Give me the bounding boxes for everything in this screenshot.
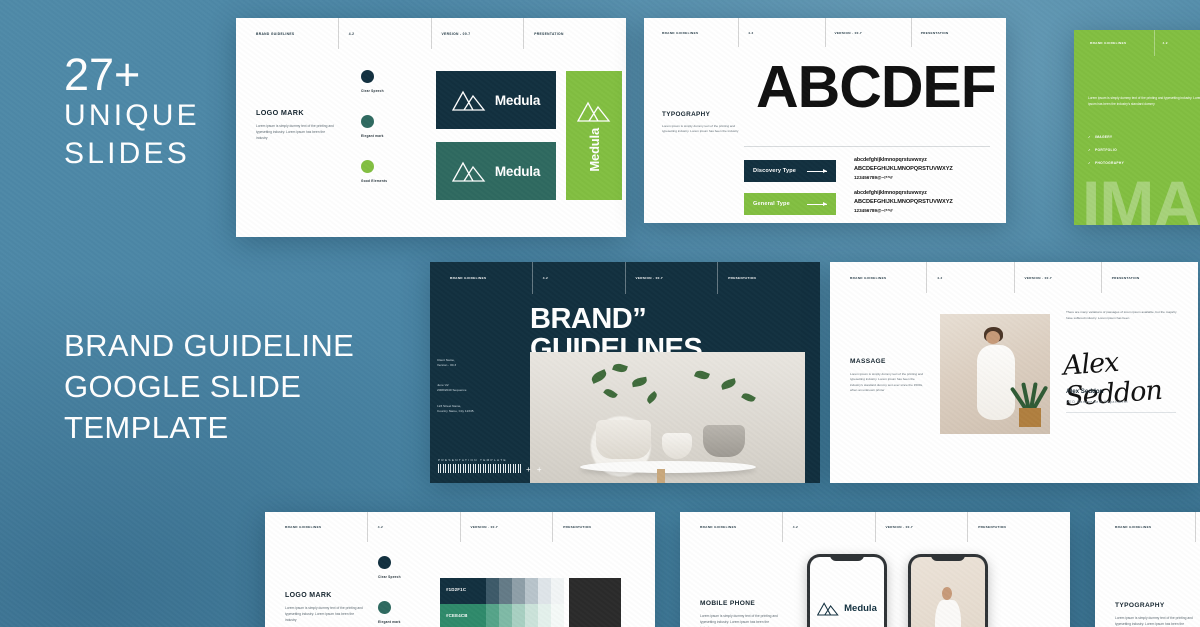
- color-swatch-list: Clear Speech Elegant mark: [378, 556, 401, 627]
- promo-banner: 27+ UNIQUE SLIDES BRAND GUIDELINE GOOGLE…: [0, 0, 1200, 627]
- header-cell-brand: BRAND GUIDELINES: [1082, 30, 1154, 56]
- general-type-button[interactable]: General Type: [744, 193, 836, 215]
- header-cell-brand: BRAND GUIDELINES: [440, 262, 532, 294]
- section-title: TYPOGRAPHY: [662, 111, 740, 118]
- section-body: Lorem ipsum is simply dummy text of the …: [256, 124, 336, 141]
- mountain-logo-icon: [452, 89, 486, 111]
- logo-lockup-teal: Medula: [436, 142, 556, 200]
- swatch-dot-teal: [361, 115, 374, 128]
- slide-header-bar: BRAND GUIDELINES 4.2 VERSION - 00.7 PRES…: [680, 512, 1070, 542]
- discovery-type-button[interactable]: Discovery Type: [744, 160, 836, 182]
- slides-label: SLIDES: [64, 135, 200, 173]
- slide-imagery[interactable]: BRAND GUIDELINES 4.2 Lorem ipsum is simp…: [1074, 30, 1200, 225]
- section-title: TYPOGRAPHY: [1115, 602, 1195, 609]
- massage-side-paragraph: There are many variations of passages of…: [1066, 310, 1178, 321]
- header-cell-version-no: 4.2: [782, 512, 875, 542]
- wordmark: Medula: [495, 164, 540, 179]
- leaf-branch-left: [580, 360, 690, 428]
- specimen-numbers: 123456789@~!*^#: [854, 175, 953, 180]
- massage-text-block: MASSAGE Lorem ipsum is simply dummy text…: [850, 358, 928, 394]
- slide-header-bar: BRAND GUIDELINES 4.2: [1095, 512, 1200, 542]
- type-specimen-general: abcdefghijklmnopqrstuvwxyz ABCDEFGHIJKLM…: [854, 190, 953, 213]
- palette-cell: [538, 604, 551, 627]
- phone-mockup-photo: [908, 554, 988, 627]
- imagery-body: Lorem ipsum is simply dummy text of the …: [1088, 96, 1200, 108]
- palette-cell: [486, 578, 499, 604]
- swatch-label: Good Elements: [361, 179, 387, 183]
- header-cell-brand: BRAND GUIDELINES: [690, 512, 782, 542]
- header-cell-presentation: PRESENTATION: [552, 512, 645, 542]
- section-body: Lorem ipsum is simply dummy text of the …: [662, 124, 740, 135]
- slide-logo-mark[interactable]: BRAND GUIDELINES 4.2 VERSION - 00.7 PRES…: [236, 18, 626, 237]
- header-cell-presentation: PRESENTATION: [911, 18, 997, 47]
- title-line-3: TEMPLATE: [64, 407, 354, 448]
- specimen-heading: ABCDEF: [756, 58, 996, 117]
- swatch-dot-teal: [378, 601, 391, 614]
- mountain-logo-icon: [817, 601, 839, 616]
- type-specimen-discovery: abcdefghijklmnopqrstuvwxyz ABCDEFGHIJKLM…: [854, 157, 953, 180]
- header-cell-version-no: 4.2: [1154, 30, 1200, 56]
- palette-cell: [499, 604, 512, 627]
- checklist-item: PHOTOGRAPHY: [1088, 161, 1124, 165]
- swatch-dot-navy: [361, 70, 374, 83]
- specimen-lowercase: abcdefghijklmnopqrstuvwxyz: [854, 157, 953, 163]
- section-body: Lorem ipsum is simply dummy text of the …: [850, 372, 928, 394]
- slide-header-bar: BRAND GUIDELINES 4.2 VERSION - 00.7 PRES…: [430, 262, 820, 294]
- specimen-numbers: 123456789@~!*^#: [854, 208, 953, 213]
- header-cell-version: VERSION - 00.7: [460, 512, 553, 542]
- header-cell-version-no: 4.2: [738, 18, 824, 47]
- palette-cell: [512, 578, 525, 604]
- palette-text-block: LOGO MARK Lorem ipsum is simply dummy te…: [285, 592, 365, 623]
- header-cell-brand: BRAND GUIDELINES: [246, 18, 338, 49]
- pot-large: [596, 420, 651, 459]
- section-body: Lorem ipsum is simply dummy text of the …: [700, 614, 780, 627]
- header-cell-brand: BRAND GUIDELINES: [275, 512, 367, 542]
- typography-text-block: TYPOGRAPHY Lorem ipsum is simply dummy t…: [662, 111, 740, 135]
- cover-meta-date: June '22 2008/2040 Sequence: [437, 383, 466, 394]
- slide-header-bar: BRAND GUIDELINES 4.2 VERSION - 00.7 PRES…: [236, 18, 626, 49]
- header-cell-version-no: 4.2: [926, 262, 1013, 293]
- header-cell-brand: BRAND GUIDELINES: [840, 262, 926, 293]
- cover-photo-plants: [530, 352, 805, 483]
- slide-typography-secondary[interactable]: BRAND GUIDELINES 4.2 TYPOGRAPHY Lorem ip…: [1095, 512, 1200, 627]
- specimen-lowercase: abcdefghijklmnopqrstuvwxyz: [854, 190, 953, 196]
- swatch-item: Good Elements: [361, 160, 387, 183]
- section-title: LOGO MARK: [256, 108, 336, 117]
- wordmark: Medula: [587, 128, 602, 172]
- unique-slides-callout: 27+ UNIQUE SLIDES: [64, 52, 200, 172]
- massage-photo-woman: [940, 314, 1050, 434]
- header-cell-version: VERSION - 00.7: [1014, 262, 1101, 293]
- cover-meta-address: 123 Street Name, Country Name, City 1234…: [437, 404, 474, 415]
- palette-cell: [538, 578, 551, 604]
- section-body: Lorem ipsum is simply dummy text of the …: [285, 606, 365, 623]
- swatch-label: Elegant mark: [378, 620, 401, 624]
- header-cell-presentation: PRESENTATION: [1101, 262, 1188, 293]
- swatch-item: Clear Speech: [378, 556, 401, 579]
- phone-notch: [830, 554, 864, 561]
- arrow-right-icon: [807, 204, 827, 205]
- mountain-logo-icon: [577, 100, 611, 122]
- section-title: LOGO MARK: [285, 592, 365, 599]
- barcode-icon: [438, 464, 522, 473]
- palette-row: #CEE4CB: [440, 604, 564, 627]
- slide-typography[interactable]: BRAND GUIDELINES 4.2 VERSION - 00.7 PRES…: [644, 18, 1006, 223]
- header-cell-brand: BRAND GUIDELINES: [1105, 512, 1195, 542]
- palette-hex-label: #CEE4CB: [440, 613, 468, 618]
- palette-cell: [486, 604, 499, 627]
- wordmark: Medula: [844, 603, 877, 614]
- mountain-logo-icon: [452, 160, 486, 182]
- table-leg: [657, 469, 665, 483]
- imagery-big-word: IMA: [1082, 171, 1200, 225]
- planter-box: [1019, 408, 1041, 427]
- header-cell-presentation: PRESENTATION: [967, 512, 1060, 542]
- leaf-branch-right: [684, 365, 778, 425]
- phone-mockup-logo: Medula: [807, 554, 887, 627]
- slide-header-bar: BRAND GUIDELINES 4.2 VERSION - 00.7 PRES…: [265, 512, 655, 542]
- palette-cell: [512, 604, 525, 627]
- header-cell-presentation: PRESENTATION: [717, 262, 810, 294]
- wordmark: Medula: [495, 93, 540, 108]
- header-cell-version: VERSION - 00.7: [625, 262, 718, 294]
- phone-logo-lockup: Medula: [810, 601, 884, 616]
- swatch-label: Elegant mark: [361, 134, 387, 138]
- slide-massage[interactable]: BRAND GUIDELINES 4.2 VERSION - 00.7 PRES…: [830, 262, 1198, 483]
- header-cell-version-no: 4.2: [532, 262, 625, 294]
- specimen-uppercase: ABCDEFGHIJKLMNOPQRSTUVWXYZ: [854, 166, 953, 172]
- color-swatch-list: Clear Speech Elegant mark Good Elements: [361, 70, 387, 205]
- slide-header-bar: BRAND GUIDELINES 4.2 VERSION - 00.7 PRES…: [644, 18, 1006, 47]
- palette-cell: [551, 578, 564, 604]
- swatch-item: Clear Speech: [361, 70, 387, 93]
- palette-cell-hex: #1D2F1C: [440, 578, 486, 604]
- pot-grey: [703, 425, 744, 456]
- figure-dress: [977, 345, 1014, 419]
- swatch-label: Clear Speech: [361, 89, 387, 93]
- logo-lockup-navy: Medula: [436, 71, 556, 129]
- page-title: BRAND GUIDELINE GOOGLE SLIDE TEMPLATE: [64, 325, 354, 449]
- header-cell-version-no: 4.2: [367, 512, 460, 542]
- swatch-label: Clear Speech: [378, 575, 401, 579]
- table-top: [580, 461, 756, 473]
- signer-name: Alex Seddon: [1066, 388, 1103, 395]
- phone-screen: [911, 557, 985, 627]
- section-title: MOBILE PHONE: [700, 600, 780, 607]
- presentation-template-label: PRESENTATION TEMPLATE: [438, 458, 507, 462]
- palette-dark-block: [569, 578, 621, 627]
- figure-head: [986, 331, 1000, 344]
- checklist-item: PORTFOLIO: [1088, 148, 1124, 152]
- swatch-dot-green: [361, 160, 374, 173]
- section-title: MASSAGE: [850, 358, 928, 365]
- slide-color-palette[interactable]: BRAND GUIDELINES 4.2 VERSION - 00.7 PRES…: [265, 512, 655, 627]
- palette-hex-label: #1D2F1C: [440, 587, 466, 592]
- divider: [1066, 412, 1176, 413]
- phone-screen: Medula: [810, 557, 884, 627]
- signer-role: CEO Management Department: [1066, 400, 1128, 404]
- palm-plant: [1015, 360, 1044, 415]
- header-cell-presentation: PRESENTATION: [523, 18, 616, 49]
- palette-cell: [551, 604, 564, 627]
- header-cell-version-no: 4.2: [1195, 512, 1200, 542]
- cover-meta-client: Client Name, Version - 00.3: [437, 358, 456, 369]
- title-line-2: GOOGLE SLIDE: [64, 366, 354, 407]
- typography2-text-block: TYPOGRAPHY Lorem ipsum is simply dummy t…: [1115, 602, 1195, 627]
- phone-notch: [931, 554, 965, 561]
- swatch-item: Elegant mark: [361, 115, 387, 138]
- palette-row: #1D2F1C: [440, 578, 564, 604]
- checklist-item: IMAGERY: [1088, 135, 1124, 139]
- swatch-item: Elegant mark: [378, 601, 401, 624]
- unique-label: UNIQUE: [64, 97, 200, 135]
- header-cell-version-no: 4.2: [338, 18, 431, 49]
- slide-count: 27+: [64, 52, 200, 97]
- palette-cell-hex: #CEE4CB: [440, 604, 486, 627]
- button-label: General Type: [753, 201, 790, 207]
- figure-body: [935, 600, 962, 627]
- cover-title-line-1: BRAND”: [530, 304, 710, 334]
- palette-cell: [499, 578, 512, 604]
- slide-header-bar: BRAND GUIDELINES 4.2: [1074, 30, 1200, 56]
- swatch-dot-navy: [378, 556, 391, 569]
- header-cell-version: VERSION - 00.7: [431, 18, 524, 49]
- palette-cell: [525, 578, 538, 604]
- vase-glass: [662, 433, 692, 459]
- figure-head: [942, 587, 952, 600]
- title-line-1: BRAND GUIDELINE: [64, 325, 354, 366]
- button-label: Discovery Type: [753, 168, 796, 174]
- arrow-right-icon: [807, 171, 827, 172]
- divider: [744, 146, 990, 147]
- logo-lockup-green-vertical: Medula: [566, 71, 622, 200]
- header-cell-version: VERSION - 00.7: [825, 18, 911, 47]
- plus-marks: + +: [526, 465, 544, 474]
- logo-mark-text-block: LOGO MARK Lorem ipsum is simply dummy te…: [256, 108, 336, 141]
- slide-brand-guidelines-cover[interactable]: BRAND GUIDELINES 4.2 VERSION - 00.7 PRES…: [430, 262, 820, 483]
- header-cell-brand: BRAND GUIDELINES: [653, 18, 738, 47]
- specimen-uppercase: ABCDEFGHIJKLMNOPQRSTUVWXYZ: [854, 199, 953, 205]
- palette-cell: [525, 604, 538, 627]
- header-cell-version: VERSION - 00.7: [875, 512, 968, 542]
- slide-mobile-phone[interactable]: BRAND GUIDELINES 4.2 VERSION - 00.7 PRES…: [680, 512, 1070, 627]
- slide-header-bar: BRAND GUIDELINES 4.2 VERSION - 00.7 PRES…: [830, 262, 1198, 293]
- palette-grid: #1D2F1C #CEE4CB: [440, 578, 564, 627]
- mobile-text-block: MOBILE PHONE Lorem ipsum is simply dummy…: [700, 600, 780, 627]
- section-body: Lorem ipsum is simply dummy text of the …: [1115, 616, 1195, 627]
